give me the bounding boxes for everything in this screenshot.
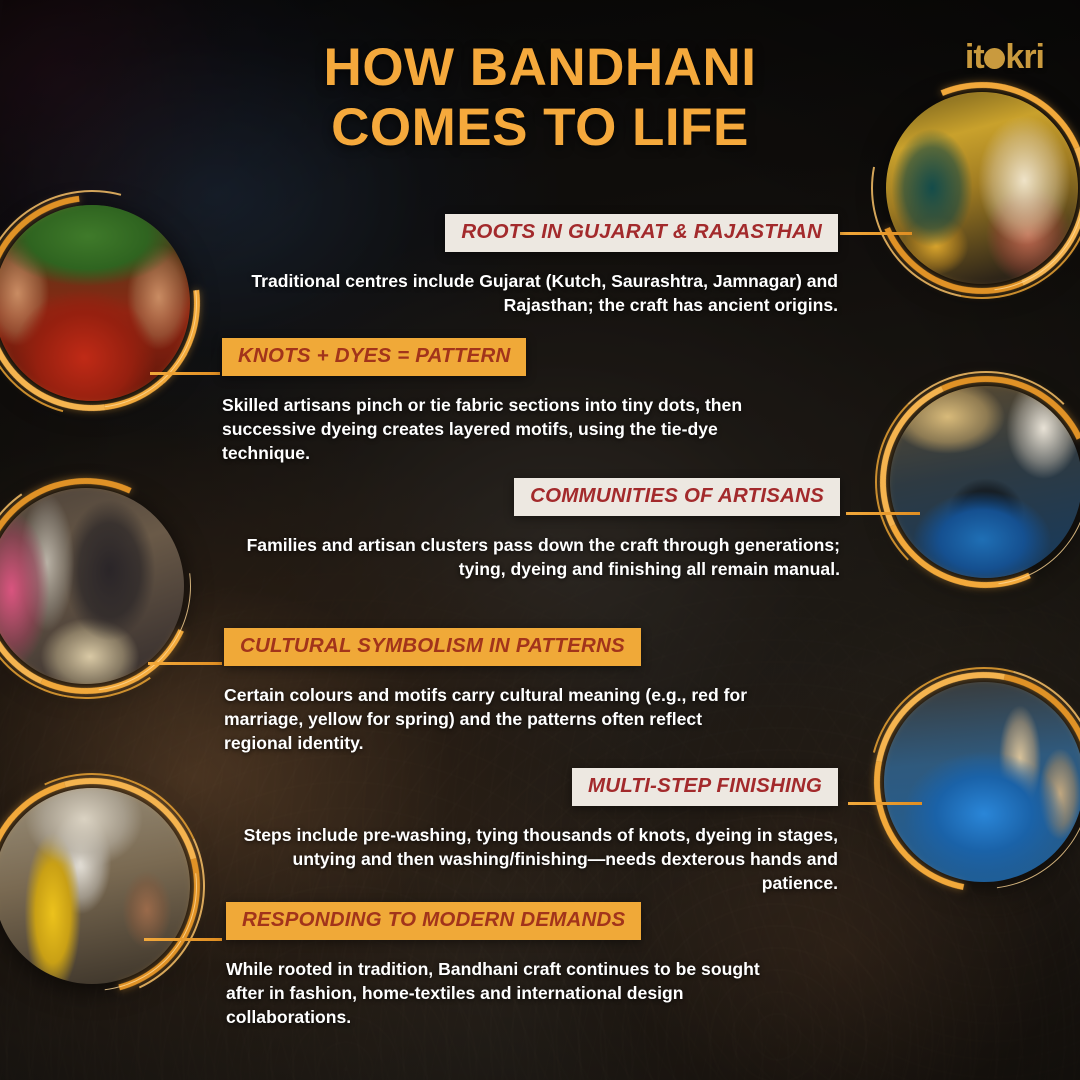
infographic-poster: HOW BANDHANI COMES TO LIFE itkri <box>0 0 1080 1080</box>
section-body-knots: Skilled artisans pinch or tie fabric sec… <box>222 393 762 466</box>
section-badge-modern[interactable]: RESPONDING TO MODERN DEMANDS <box>226 902 641 940</box>
section-badge-symbolism[interactable]: CULTURAL SYMBOLISM IN PATTERNS <box>224 628 641 666</box>
section-communities: COMMUNITIES OF ARTISANS Families and art… <box>240 478 840 581</box>
photo-circle-dye-man <box>880 376 1080 588</box>
section-finishing: MULTI-STEP FINISHING Steps include pre-w… <box>238 768 838 896</box>
photo-circle-yellow-skeins <box>0 778 200 994</box>
logo-text-part2: kri <box>1005 38 1044 76</box>
section-badge-roots[interactable]: ROOTS IN GUJARAT & RAJASTHAN <box>445 214 838 252</box>
section-badge-communities[interactable]: COMMUNITIES OF ARTISANS <box>514 478 840 516</box>
logo-text-part1: it <box>965 38 984 76</box>
section-badge-finishing[interactable]: MULTI-STEP FINISHING <box>572 768 838 806</box>
photo-circle-red-hands <box>0 195 200 411</box>
section-roots: ROOTS IN GUJARAT & RAJASTHAN Traditional… <box>238 214 838 317</box>
page-title: HOW BANDHANI COMES TO LIFE <box>0 38 1080 159</box>
section-body-roots: Traditional centres include Gujarat (Kut… <box>238 269 838 318</box>
connector-line-modern <box>144 938 222 941</box>
itokri-logo[interactable]: itkri <box>965 40 1044 74</box>
title-line-1: HOW BANDHANI <box>324 38 757 97</box>
section-knots: KNOTS + DYES = PATTERN Skilled artisans … <box>222 338 762 466</box>
connector-line-communities <box>846 512 920 515</box>
section-symbolism: CULTURAL SYMBOLISM IN PATTERNS Certain c… <box>224 628 764 756</box>
section-body-modern: While rooted in tradition, Bandhani craf… <box>226 957 786 1030</box>
connector-line-roots <box>840 232 912 235</box>
title-line-2: COMES TO LIFE <box>0 98 1080 158</box>
section-body-finishing: Steps include pre-washing, tying thousan… <box>238 823 838 896</box>
section-body-communities: Families and artisan clusters pass down … <box>240 533 840 582</box>
section-badge-knots[interactable]: KNOTS + DYES = PATTERN <box>222 338 526 376</box>
photo-circle-blue-vat <box>874 672 1080 892</box>
logo-circle-icon <box>984 48 1005 69</box>
connector-line-symbolism <box>148 662 222 665</box>
connector-line-finishing <box>848 802 922 805</box>
section-body-symbolism: Certain colours and motifs carry cultura… <box>224 683 764 756</box>
connector-line-knots <box>150 372 220 375</box>
section-modern: RESPONDING TO MODERN DEMANDS While roote… <box>226 902 786 1030</box>
